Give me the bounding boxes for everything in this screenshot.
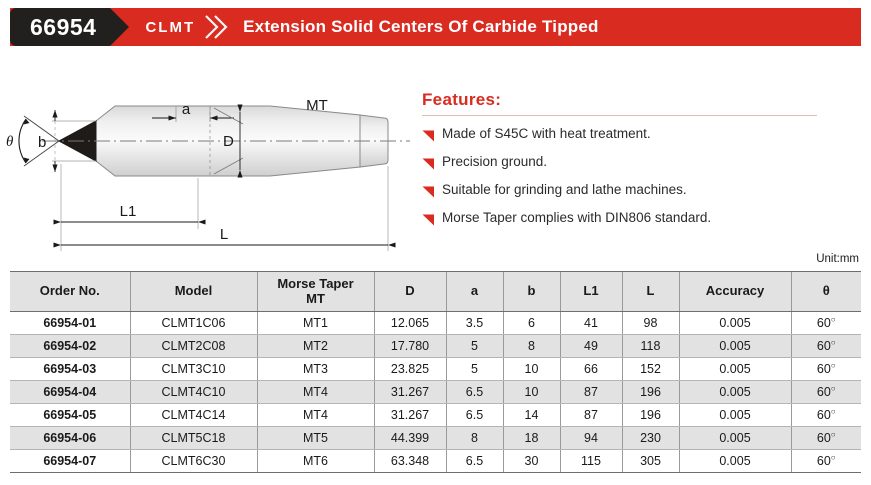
D-label: D bbox=[223, 133, 234, 150]
cell-b: 18 bbox=[503, 427, 560, 450]
MT-label: MT bbox=[306, 97, 328, 114]
cell-L1: 87 bbox=[560, 381, 622, 404]
cell-b: 14 bbox=[503, 404, 560, 427]
cell-mt: MT1 bbox=[257, 312, 374, 335]
cell-mt: MT5 bbox=[257, 427, 374, 450]
feature-item: Precision ground. bbox=[422, 153, 862, 175]
cell-b: 6 bbox=[503, 312, 560, 335]
col-morse-taper-line2: MT bbox=[258, 292, 374, 307]
product-code-label: 66954 bbox=[10, 8, 110, 46]
cell-a: 5 bbox=[446, 358, 503, 381]
col-a: a bbox=[446, 272, 503, 312]
col-morse-taper: Morse Taper MT bbox=[257, 272, 374, 312]
cell-L: 196 bbox=[622, 381, 679, 404]
features-divider bbox=[422, 115, 817, 116]
feature-text: Made of S45C with heat treatment. bbox=[442, 125, 651, 143]
cell-D: 63.348 bbox=[374, 450, 446, 473]
product-header-banner: 66954 CLMT Extension Solid Centers Of Ca… bbox=[10, 8, 861, 46]
L1-label: L1 bbox=[120, 203, 137, 220]
product-technical-drawing: θ b a bbox=[0, 88, 415, 258]
cell-accuracy: 0.005 bbox=[679, 312, 791, 335]
feature-text: Morse Taper complies with DIN806 standar… bbox=[442, 209, 711, 227]
code-tag-arrow-point bbox=[110, 8, 129, 46]
cell-mt: MT2 bbox=[257, 335, 374, 358]
cell-L1: 87 bbox=[560, 404, 622, 427]
cell-model: CLMT3C10 bbox=[130, 358, 257, 381]
cell-b: 10 bbox=[503, 358, 560, 381]
cell-L1: 49 bbox=[560, 335, 622, 358]
L-label: L bbox=[220, 226, 228, 243]
double-chevron-icon bbox=[203, 12, 229, 42]
table-row: 66954-06 CLMT5C18 MT5 44.399 8 18 94 230… bbox=[10, 427, 861, 450]
cell-mt: MT4 bbox=[257, 404, 374, 427]
table-row: 66954-04 CLMT4C10 MT4 31.267 6.5 10 87 1… bbox=[10, 381, 861, 404]
feature-item: Suitable for grinding and lathe machines… bbox=[422, 181, 862, 203]
cell-theta: 60○ bbox=[791, 450, 861, 473]
series-label: CLMT bbox=[129, 19, 203, 36]
table-header-row: Order No. Model Morse Taper MT D a b L1 … bbox=[10, 272, 861, 312]
cell-L: 305 bbox=[622, 450, 679, 473]
cell-D: 44.399 bbox=[374, 427, 446, 450]
product-code-tag: 66954 bbox=[10, 8, 129, 46]
cell-theta: 60○ bbox=[791, 404, 861, 427]
cell-b: 8 bbox=[503, 335, 560, 358]
table-row: 66954-03 CLMT3C10 MT3 23.825 5 10 66 152… bbox=[10, 358, 861, 381]
features-section: Features: Made of S45C with heat treatme… bbox=[422, 90, 862, 237]
cell-theta: 60○ bbox=[791, 427, 861, 450]
cell-model: CLMT5C18 bbox=[130, 427, 257, 450]
cell-order-no: 66954-01 bbox=[10, 312, 130, 335]
specifications-table: Order No. Model Morse Taper MT D a b L1 … bbox=[10, 271, 861, 473]
cell-b: 30 bbox=[503, 450, 560, 473]
table-row: 66954-02 CLMT2C08 MT2 17.780 5 8 49 118 … bbox=[10, 335, 861, 358]
cell-accuracy: 0.005 bbox=[679, 381, 791, 404]
cell-order-no: 66954-04 bbox=[10, 381, 130, 404]
cell-L1: 66 bbox=[560, 358, 622, 381]
feature-item: Morse Taper complies with DIN806 standar… bbox=[422, 209, 862, 231]
triangle-bullet-icon bbox=[422, 125, 442, 147]
cell-accuracy: 0.005 bbox=[679, 450, 791, 473]
cell-a: 6.5 bbox=[446, 450, 503, 473]
cell-model: CLMT4C14 bbox=[130, 404, 257, 427]
cell-accuracy: 0.005 bbox=[679, 427, 791, 450]
col-theta: θ bbox=[791, 272, 861, 312]
unit-label: Unit:mm bbox=[816, 253, 859, 265]
cell-b: 10 bbox=[503, 381, 560, 404]
cell-order-no: 66954-05 bbox=[10, 404, 130, 427]
feature-item: Made of S45C with heat treatment. bbox=[422, 125, 862, 147]
cell-D: 17.780 bbox=[374, 335, 446, 358]
table-row: 66954-07 CLMT6C30 MT6 63.348 6.5 30 115 … bbox=[10, 450, 861, 473]
col-b: b bbox=[503, 272, 560, 312]
cell-order-no: 66954-02 bbox=[10, 335, 130, 358]
cell-a: 6.5 bbox=[446, 404, 503, 427]
cell-mt: MT3 bbox=[257, 358, 374, 381]
table-row: 66954-05 CLMT4C14 MT4 31.267 6.5 14 87 1… bbox=[10, 404, 861, 427]
cell-mt: MT4 bbox=[257, 381, 374, 404]
cell-L: 152 bbox=[622, 358, 679, 381]
b-label: b bbox=[38, 134, 46, 151]
cell-model: CLMT1C06 bbox=[130, 312, 257, 335]
feature-text: Suitable for grinding and lathe machines… bbox=[442, 181, 687, 199]
cell-L1: 94 bbox=[560, 427, 622, 450]
cell-theta: 60○ bbox=[791, 358, 861, 381]
triangle-bullet-icon bbox=[422, 209, 442, 231]
a-label: a bbox=[182, 101, 191, 118]
col-order-no: Order No. bbox=[10, 272, 130, 312]
feature-text: Precision ground. bbox=[442, 153, 547, 171]
cell-theta: 60○ bbox=[791, 381, 861, 404]
cell-L: 230 bbox=[622, 427, 679, 450]
cell-order-no: 66954-07 bbox=[10, 450, 130, 473]
table-row: 66954-01 CLMT1C06 MT1 12.065 3.5 6 41 98… bbox=[10, 312, 861, 335]
cell-a: 5 bbox=[446, 335, 503, 358]
cell-D: 31.267 bbox=[374, 404, 446, 427]
col-L: L bbox=[622, 272, 679, 312]
cell-accuracy: 0.005 bbox=[679, 335, 791, 358]
theta-label: θ bbox=[6, 134, 14, 150]
cell-order-no: 66954-03 bbox=[10, 358, 130, 381]
cell-accuracy: 0.005 bbox=[679, 358, 791, 381]
center-body-shape bbox=[96, 106, 388, 176]
col-morse-taper-line1: Morse Taper bbox=[258, 277, 374, 292]
cell-a: 8 bbox=[446, 427, 503, 450]
triangle-bullet-icon bbox=[422, 153, 442, 175]
cell-a: 6.5 bbox=[446, 381, 503, 404]
cell-model: CLMT6C30 bbox=[130, 450, 257, 473]
col-D: D bbox=[374, 272, 446, 312]
cell-theta: 60○ bbox=[791, 312, 861, 335]
cell-L: 98 bbox=[622, 312, 679, 335]
cell-accuracy: 0.005 bbox=[679, 404, 791, 427]
cell-mt: MT6 bbox=[257, 450, 374, 473]
cell-L1: 41 bbox=[560, 312, 622, 335]
col-accuracy: Accuracy bbox=[679, 272, 791, 312]
col-L1: L1 bbox=[560, 272, 622, 312]
cell-D: 12.065 bbox=[374, 312, 446, 335]
features-heading: Features: bbox=[422, 90, 862, 110]
triangle-bullet-icon bbox=[422, 181, 442, 203]
cell-theta: 60○ bbox=[791, 335, 861, 358]
cell-a: 3.5 bbox=[446, 312, 503, 335]
cell-L: 196 bbox=[622, 404, 679, 427]
col-model: Model bbox=[130, 272, 257, 312]
product-title: Extension Solid Centers Of Carbide Tippe… bbox=[243, 17, 599, 37]
cell-D: 23.825 bbox=[374, 358, 446, 381]
cell-order-no: 66954-06 bbox=[10, 427, 130, 450]
cell-model: CLMT2C08 bbox=[130, 335, 257, 358]
cell-L: 118 bbox=[622, 335, 679, 358]
datasheet-page: 66954 CLMT Extension Solid Centers Of Ca… bbox=[0, 0, 871, 485]
cell-model: CLMT4C10 bbox=[130, 381, 257, 404]
cell-L1: 115 bbox=[560, 450, 622, 473]
cell-D: 31.267 bbox=[374, 381, 446, 404]
